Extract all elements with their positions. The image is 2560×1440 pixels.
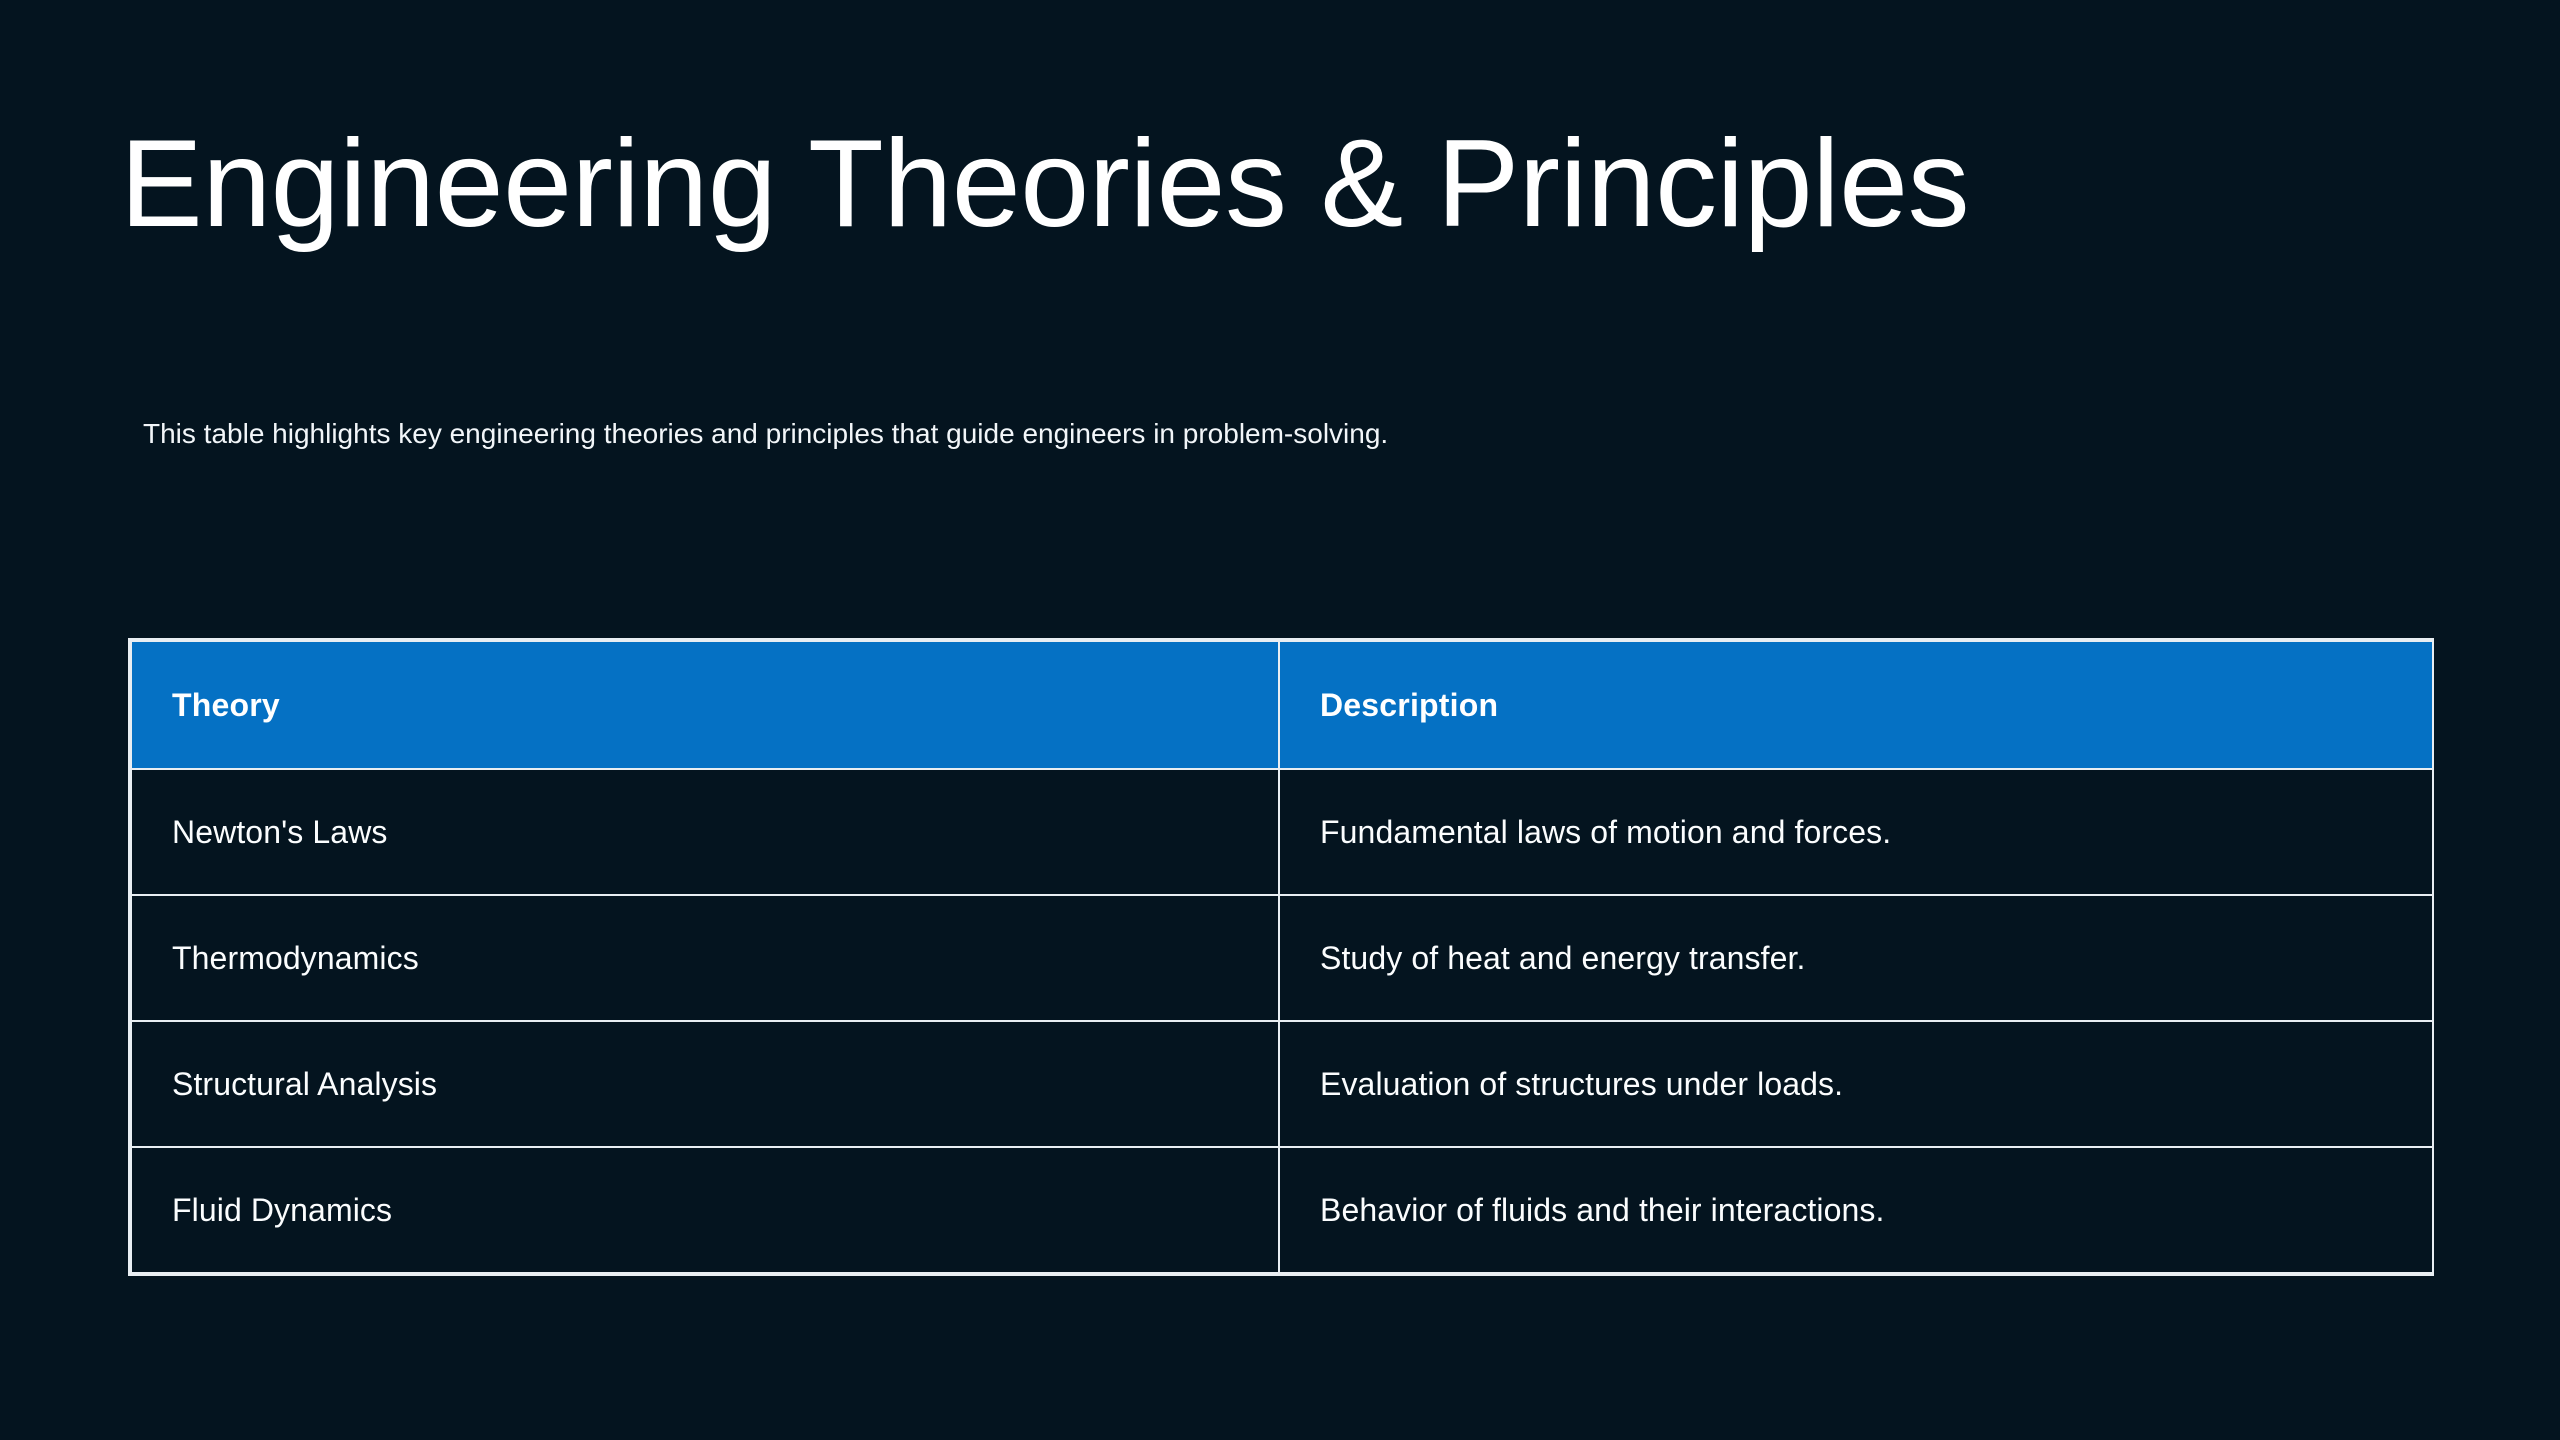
cell-description: Fundamental laws of motion and forces. [1279, 769, 2433, 895]
slide-canvas: Engineering Theories & Principles This t… [0, 0, 2560, 1440]
column-header-description: Description [1279, 641, 2433, 769]
cell-theory: Newton's Laws [131, 769, 1279, 895]
table-row: Newton's Laws Fundamental laws of motion… [131, 769, 2433, 895]
cell-theory: Structural Analysis [131, 1021, 1279, 1147]
table-row: Structural Analysis Evaluation of struct… [131, 1021, 2433, 1147]
cell-theory: Thermodynamics [131, 895, 1279, 1021]
theories-table-container: Theory Description Newton's Laws Fundame… [128, 638, 2434, 1276]
page-title: Engineering Theories & Principles [120, 118, 1969, 252]
cell-description: Evaluation of structures under loads. [1279, 1021, 2433, 1147]
table-body: Newton's Laws Fundamental laws of motion… [131, 769, 2433, 1273]
table-row: Fluid Dynamics Behavior of fluids and th… [131, 1147, 2433, 1273]
cell-theory: Fluid Dynamics [131, 1147, 1279, 1273]
theories-table: Theory Description Newton's Laws Fundame… [130, 640, 2434, 1274]
table-header: Theory Description [131, 641, 2433, 769]
table-header-row: Theory Description [131, 641, 2433, 769]
column-header-theory: Theory [131, 641, 1279, 769]
slide-subtitle: This table highlights key engineering th… [143, 414, 1388, 453]
cell-description: Behavior of fluids and their interaction… [1279, 1147, 2433, 1273]
table-row: Thermodynamics Study of heat and energy … [131, 895, 2433, 1021]
cell-description: Study of heat and energy transfer. [1279, 895, 2433, 1021]
